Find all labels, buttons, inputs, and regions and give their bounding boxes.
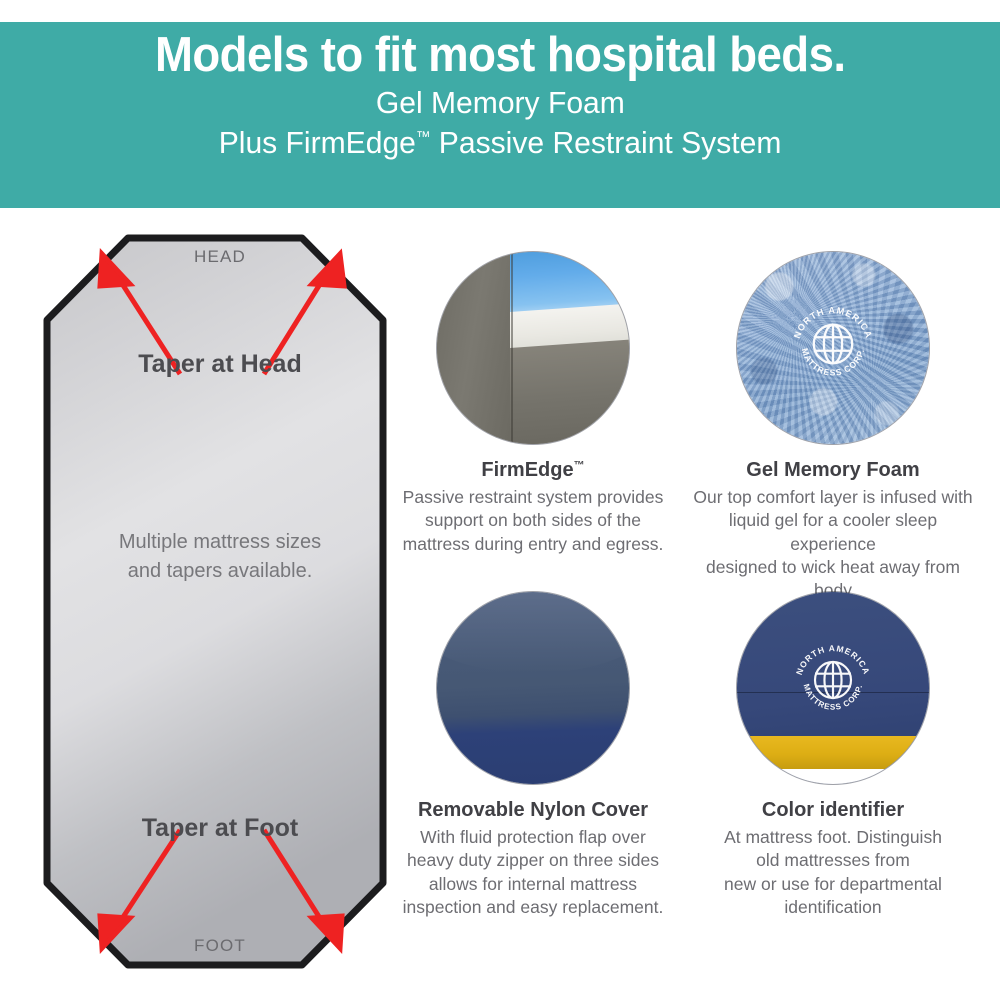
feature-title-text: Gel Memory Foam <box>746 459 919 481</box>
page-headline: Models to fit most hospital beds. <box>155 28 845 83</box>
feature-panel-gel-memory-foam: NORTH AMERICA MATTRESS CORP. Gel Memory … <box>688 252 978 602</box>
firmedge-photo <box>437 252 629 444</box>
desc-line: mattress during entry and egress. <box>388 533 678 556</box>
mattress-diagram: HEAD Taper at Head Multiple mattress siz… <box>40 228 400 978</box>
desc-line: At mattress foot. Distinguish <box>688 826 978 849</box>
feature-title-text: Color identifier <box>762 799 904 821</box>
desc-line: new or use for departmental <box>688 873 978 896</box>
desc-line: Passive restraint system provides <box>388 486 678 509</box>
header-subtitle-line1: Gel Memory Foam <box>376 83 625 122</box>
feature-title-text: FirmEdge <box>481 459 573 481</box>
header-subtitle-line2: Plus FirmEdge™ Passive Restraint System <box>219 123 782 162</box>
support-foam-layer <box>510 340 629 444</box>
desc-line: inspection and easy replacement. <box>388 896 678 919</box>
center-note-line1: Multiple mattress sizes <box>40 528 400 557</box>
mattress-shape-svg <box>40 228 400 978</box>
feature-panel-firmedge: FirmEdge™ Passive restraint system provi… <box>388 252 678 556</box>
desc-line: liquid gel for a cooler sleep experience <box>688 509 978 556</box>
white-base-strip <box>737 769 929 784</box>
feature-title: FirmEdge™ <box>388 458 678 482</box>
taper-at-head-label: Taper at Head <box>40 350 400 379</box>
cover-sheen <box>437 592 629 673</box>
head-label: HEAD <box>40 247 400 267</box>
center-note-line2: and tapers available. <box>40 557 400 586</box>
nylon-cover-photo <box>437 592 629 784</box>
north-america-mattress-corp-logo-icon: NORTH AMERICA MATTRESS CORP. <box>785 296 881 392</box>
desc-line: identification <box>688 896 978 919</box>
desc-line: old mattresses from <box>688 849 978 872</box>
feature-description: At mattress foot. Distinguish old mattre… <box>688 826 978 919</box>
color-identifier-photo: NORTH AMERICA MATTRESS CORP. <box>737 592 929 784</box>
feature-title: Gel Memory Foam <box>688 458 978 482</box>
desc-line: heavy duty zipper on three sides <box>388 849 678 872</box>
desc-line: Our top comfort layer is infused with <box>688 486 978 509</box>
firmedge-rail-layer <box>437 252 516 444</box>
foot-label: FOOT <box>40 936 400 956</box>
gel-foam-photo: NORTH AMERICA MATTRESS CORP. <box>737 252 929 444</box>
cover-image-holder <box>437 592 629 784</box>
taper-at-foot-label: Taper at Foot <box>40 814 400 843</box>
header-banner: Models to fit most hospital beds. Gel Me… <box>0 22 1000 208</box>
mattress-center-note: Multiple mattress sizes and tapers avail… <box>40 528 400 586</box>
color-identifier-image-holder: NORTH AMERICA MATTRESS CORP. <box>737 592 929 784</box>
subtitle-text-after: Passive Restraint System <box>430 125 781 160</box>
feature-description: Our top comfort layer is infused with li… <box>688 486 978 602</box>
feature-panel-removable-nylon-cover: Removable Nylon Cover With fluid protect… <box>388 592 678 919</box>
mattress-outline <box>47 238 383 965</box>
north-america-mattress-corp-logo-icon: NORTH AMERICA MATTRESS CORP. <box>788 635 878 725</box>
desc-line: With fluid protection flap over <box>388 826 678 849</box>
firmedge-image-holder <box>437 252 629 444</box>
gold-color-band <box>737 736 929 769</box>
feature-panel-color-identifier: NORTH AMERICA MATTRESS CORP. Color ident… <box>688 592 978 919</box>
subtitle-text-before: Plus FirmEdge <box>219 125 416 160</box>
trademark-icon: ™ <box>574 459 585 471</box>
gel-image-holder: NORTH AMERICA MATTRESS CORP. <box>737 252 929 444</box>
feature-title-text: Removable Nylon Cover <box>418 799 648 821</box>
desc-line: allows for internal mattress <box>388 873 678 896</box>
feature-title: Color identifier <box>688 798 978 822</box>
feature-description: With fluid protection flap over heavy du… <box>388 826 678 919</box>
desc-line: support on both sides of the <box>388 509 678 532</box>
feature-description: Passive restraint system provides suppor… <box>388 486 678 556</box>
foam-seam-line <box>511 252 513 444</box>
feature-title: Removable Nylon Cover <box>388 798 678 822</box>
trademark-icon: ™ <box>416 129 431 146</box>
